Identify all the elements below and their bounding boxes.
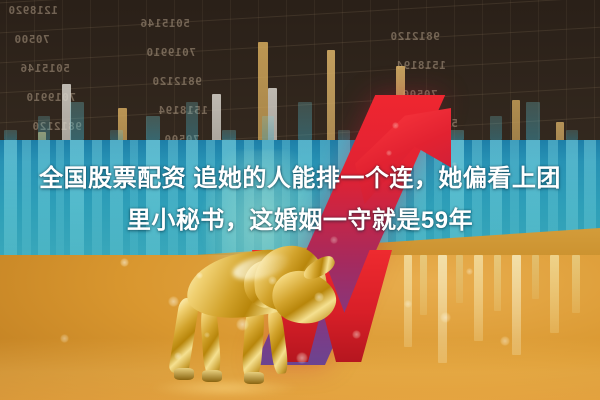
bokeh-dot — [174, 352, 182, 360]
bokeh-dot — [196, 272, 203, 279]
bokeh-dot — [466, 268, 473, 275]
bokeh-dot — [386, 150, 392, 156]
bokeh-dot — [352, 330, 361, 339]
headline-line-1: 全国股票配资 追她的人能排一个连，她偏看上团 — [0, 158, 600, 200]
bokeh-dot — [268, 276, 277, 285]
bokeh-dot — [60, 334, 69, 343]
stock-banner-image: 1218920501514698121207050070199101518194… — [0, 0, 600, 400]
headline-line-2: 里小秘书，这婚姻一守就是59年 — [0, 200, 600, 242]
bokeh-dot — [296, 352, 308, 364]
bokeh-dot — [500, 336, 510, 346]
bokeh-dot — [236, 318, 249, 331]
bokeh-dot — [120, 258, 129, 267]
bokeh-dot — [314, 292, 324, 302]
headline-text: 全国股票配资 追她的人能排一个连，她偏看上团 里小秘书，这婚姻一守就是59年 — [0, 158, 600, 242]
bokeh-dot — [204, 332, 210, 338]
bokeh-dot — [392, 122, 399, 129]
bokeh-dot — [168, 296, 179, 307]
bokeh-dot — [440, 312, 451, 323]
bokeh-dot — [404, 300, 412, 308]
